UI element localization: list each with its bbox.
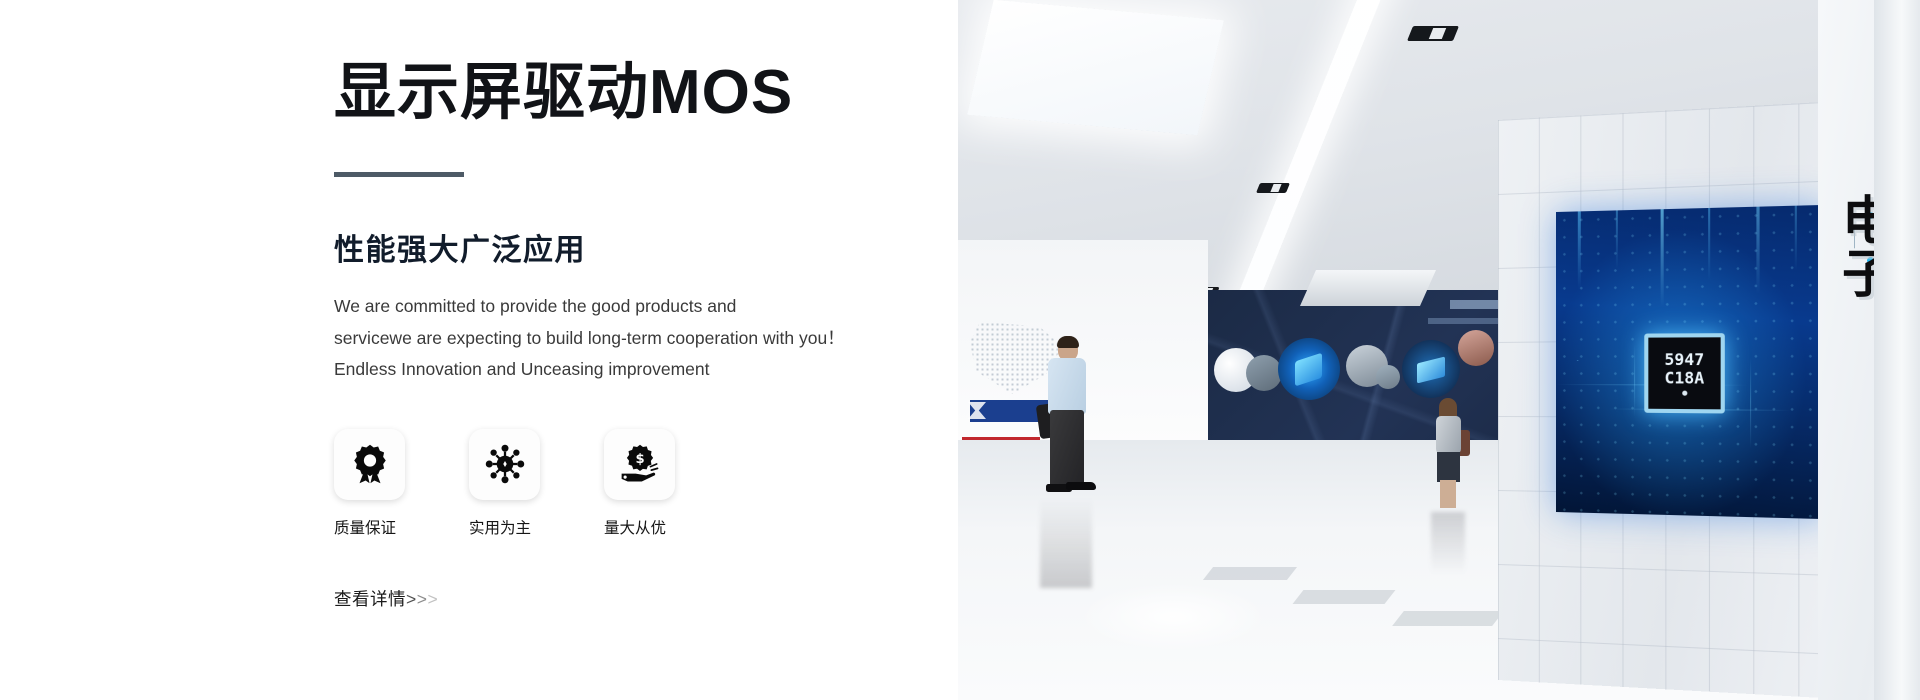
floor-tile: [1203, 567, 1297, 580]
right-wall-column: [1874, 0, 1920, 700]
showroom-photo: 5947 C18A 电 子 创 和: [958, 0, 1920, 700]
blouse: [1436, 416, 1461, 454]
text-panel: 显示屏驱动MOS 性能强大广泛应用 We are committed to pr…: [0, 0, 958, 700]
visitor-woman: [1428, 400, 1468, 512]
chevron-right-icon: >: [406, 589, 417, 609]
svg-text:$: $: [635, 452, 644, 467]
view-details-link[interactable]: 查看详情>>>: [334, 586, 438, 611]
feature-item-quality[interactable]: 质量保证: [334, 429, 412, 538]
exhibit-medallion-chip: [1402, 340, 1460, 398]
feature-list: 质量保证: [334, 429, 904, 538]
exhibit-medallion-chip: [1278, 338, 1340, 400]
exhibit-medallion: [1246, 355, 1282, 391]
feature-badge: [334, 429, 405, 500]
spotlight-icon: [1256, 183, 1290, 193]
visitor-reflection: [1431, 512, 1465, 574]
description-line-2: servicewe are expecting to build long-te…: [334, 323, 904, 354]
feature-item-practical[interactable]: 实用为主: [469, 429, 547, 538]
chip-label-line-2: C18A: [1664, 369, 1704, 387]
feature-label: 质量保证: [334, 516, 412, 538]
floor-tile: [1293, 590, 1396, 604]
skirt: [1437, 452, 1460, 482]
chip-graphic: 5947 C18A: [1644, 333, 1725, 413]
page-title: 显示屏驱动MOS: [334, 58, 904, 127]
chip-orientation-dot: [1682, 391, 1687, 396]
description-paragraph: We are committed to provide the good pro…: [334, 291, 904, 384]
feature-label: 量大从优: [604, 516, 682, 538]
view-details-label: 查看详情: [334, 589, 406, 609]
medal-award-icon: [349, 443, 391, 485]
floor-reflection-glow: [1078, 582, 1268, 652]
trousers: [1050, 410, 1084, 486]
description-line-1: We are committed to provide the good pro…: [334, 291, 904, 322]
shoe: [1066, 482, 1096, 490]
chevron-right-icon: >: [417, 589, 428, 609]
hair: [1057, 336, 1079, 348]
text-content: 显示屏驱动MOS 性能强大广泛应用 We are committed to pr…: [334, 58, 904, 611]
feature-badge: [469, 429, 540, 500]
hero-banner: 显示屏驱动MOS 性能强大广泛应用 We are committed to pr…: [0, 0, 1920, 700]
title-divider: [334, 172, 464, 177]
network-hub-icon: [484, 443, 526, 485]
visitor-man: [1036, 338, 1098, 498]
hand-money-icon: $: [619, 443, 661, 485]
feature-item-bulk[interactable]: $ 量大从优: [604, 429, 682, 538]
description-line-3: Endless Innovation and Unceasing improve…: [334, 354, 904, 385]
spotlight-icon: [1407, 26, 1459, 41]
chevron-right-icon: >: [427, 589, 438, 609]
chip-label-line-1: 5947: [1664, 350, 1704, 368]
page-subtitle: 性能强大广泛应用: [334, 225, 904, 269]
skylight-panel: [967, 0, 1224, 135]
feature-label: 实用为主: [469, 516, 547, 538]
exhibit-medallion: [1458, 330, 1494, 366]
floor-tile: [1392, 611, 1504, 626]
exhibit-medallion: [1376, 365, 1400, 389]
led-circuit-screen: 5947 C18A: [1556, 205, 1825, 519]
legs: [1440, 480, 1456, 508]
ceiling-baffle: [1300, 270, 1436, 306]
shirt: [1048, 358, 1086, 414]
visitor-reflection: [1040, 498, 1092, 588]
feature-badge: $: [604, 429, 675, 500]
